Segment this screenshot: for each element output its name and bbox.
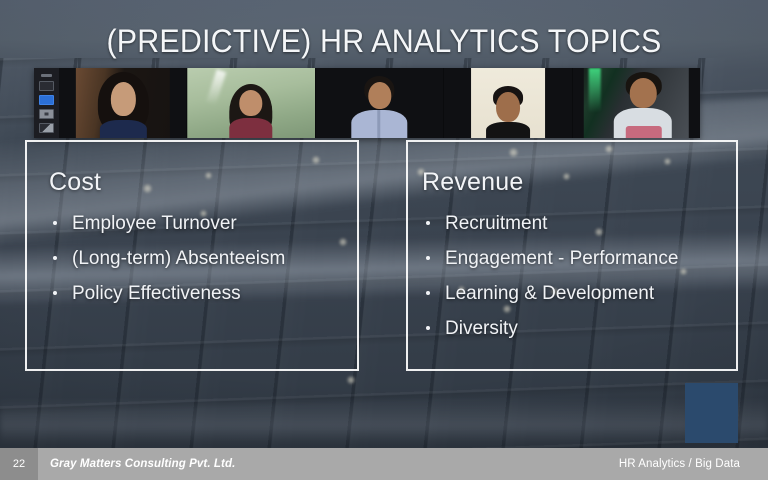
page-number-badge: 22 [0, 448, 38, 480]
video-conference-strip[interactable] [34, 68, 700, 138]
participant-tile[interactable] [573, 68, 700, 138]
content-box-revenue: Revenue Recruitment Engagement - Perform… [406, 140, 738, 371]
list-item-label: Diversity [445, 318, 518, 339]
list-item-label: Learning & Development [445, 283, 654, 304]
list-item: Diversity [422, 311, 678, 346]
bullet-list-cost: Employee Turnover (Long-term) Absenteeis… [49, 206, 285, 311]
slide-footer: 22 Gray Matters Consulting Pvt. Ltd. HR … [0, 448, 768, 480]
split-view-icon[interactable] [39, 123, 54, 133]
footer-company-name: Gray Matters Consulting Pvt. Ltd. [50, 458, 235, 470]
list-item-label: Employee Turnover [72, 213, 237, 234]
speaker-view-icon[interactable] [39, 81, 54, 91]
participant-tile[interactable] [316, 68, 444, 138]
view-layout-controls[interactable] [34, 68, 59, 138]
gallery-view-icon[interactable] [39, 109, 54, 119]
bullet-dot-icon [426, 291, 430, 295]
bullet-dot-icon [426, 256, 430, 260]
bullet-dot-icon [53, 221, 57, 225]
bullet-list-revenue: Recruitment Engagement - Performance Lea… [422, 206, 678, 346]
video-feed [76, 68, 170, 138]
minimize-bar-icon[interactable] [41, 74, 52, 77]
list-item-label: Policy Effectiveness [72, 283, 241, 304]
footer-topic: HR Analytics / Big Data [619, 458, 740, 470]
presentation-slide: (PREDICTIVE) HR ANALYTICS TOPICS [0, 0, 768, 480]
video-feed [471, 68, 545, 138]
column-heading-cost: Cost [49, 168, 101, 197]
page-title: (PREDICTIVE) HR ANALYTICS TOPICS [19, 22, 749, 60]
bullet-dot-icon [53, 256, 57, 260]
video-feed [584, 68, 688, 138]
content-box-cost: Cost Employee Turnover (Long-term) Absen… [25, 140, 359, 371]
participant-tile[interactable] [187, 68, 315, 138]
participant-tiles [59, 68, 700, 138]
accent-square [685, 383, 738, 443]
video-feed [316, 68, 443, 138]
participant-tile[interactable] [59, 68, 187, 138]
video-feed [187, 68, 314, 138]
list-item-label: (Long-term) Absenteeism [72, 248, 285, 269]
bullet-dot-icon [426, 221, 430, 225]
list-item: (Long-term) Absenteeism [49, 241, 285, 276]
list-item: Recruitment [422, 206, 678, 241]
list-item: Policy Effectiveness [49, 276, 285, 311]
list-item: Employee Turnover [49, 206, 285, 241]
active-speaker-icon[interactable] [39, 95, 54, 105]
bullet-dot-icon [53, 291, 57, 295]
column-heading-revenue: Revenue [422, 168, 523, 197]
bullet-dot-icon [426, 326, 430, 330]
participant-tile[interactable] [444, 68, 572, 138]
list-item: Learning & Development [422, 276, 678, 311]
list-item: Engagement - Performance [422, 241, 678, 276]
list-item-label: Engagement - Performance [445, 248, 678, 269]
list-item-label: Recruitment [445, 213, 547, 234]
